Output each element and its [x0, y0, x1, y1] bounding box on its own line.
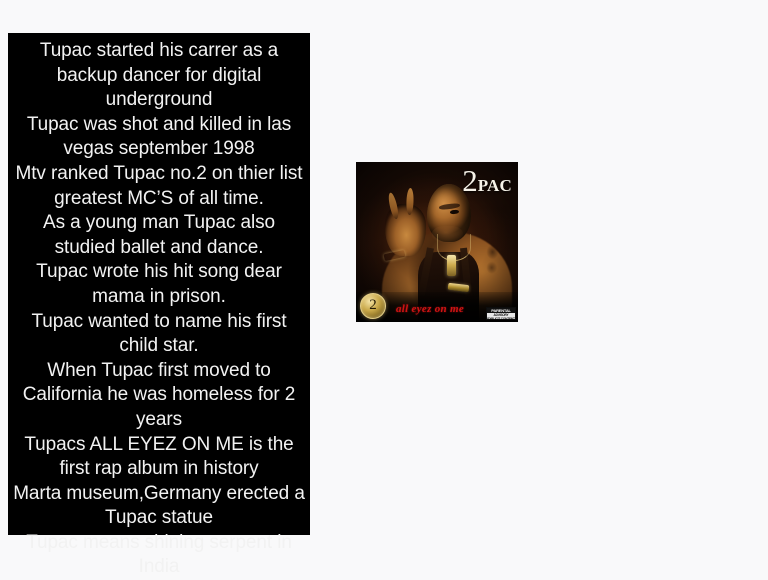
list-item: Marta museum,Germany erected a Tupac sta…: [12, 482, 306, 531]
wordmark-text: PAC: [478, 177, 512, 194]
list-item: Mtv ranked Tupac no.2 on thier list grea…: [12, 162, 306, 211]
album-cover-image: 2 PAC 2 all eyez on me PARENTAL ADVISORY…: [356, 162, 518, 322]
advisory-note-text: EXPLICIT CONTENT: [487, 317, 515, 320]
list-item: As a young man Tupac also studied ballet…: [12, 211, 306, 260]
list-item: Tupac means shining serpent in India: [12, 531, 306, 580]
list-item: Tupac was shot and killed in las vegas s…: [12, 113, 306, 162]
fact-list: Tupac started his carrer as a backup dan…: [12, 39, 306, 580]
figure-pendant: [447, 255, 457, 276]
album-title-text: all eyez on me: [396, 303, 464, 314]
parental-advisory-icon: PARENTAL ADVISORY EXPLICIT CONTENT: [486, 307, 516, 320]
wordmark-number: 2: [462, 165, 477, 196]
figure-tattoo: [482, 245, 503, 283]
list-item: When Tupac first moved to California he …: [12, 359, 306, 433]
album-gold-seal-icon: 2: [360, 293, 386, 319]
tupac-facts-panel: Tupac started his carrer as a backup dan…: [8, 33, 310, 535]
list-item: Tupac started his carrer as a backup dan…: [12, 39, 306, 113]
list-item: Tupacs ALL EYEZ ON ME is the first rap a…: [12, 433, 306, 482]
list-item: Tupac wrote his hit song dear mama in pr…: [12, 260, 306, 309]
album-wordmark: 2 PAC: [462, 165, 512, 196]
album-bottom-strip: 2 all eyez on me PARENTAL ADVISORY EXPLI…: [356, 292, 518, 322]
list-item: Tupac wanted to name his first child sta…: [12, 310, 306, 359]
seal-number: 2: [369, 298, 377, 313]
